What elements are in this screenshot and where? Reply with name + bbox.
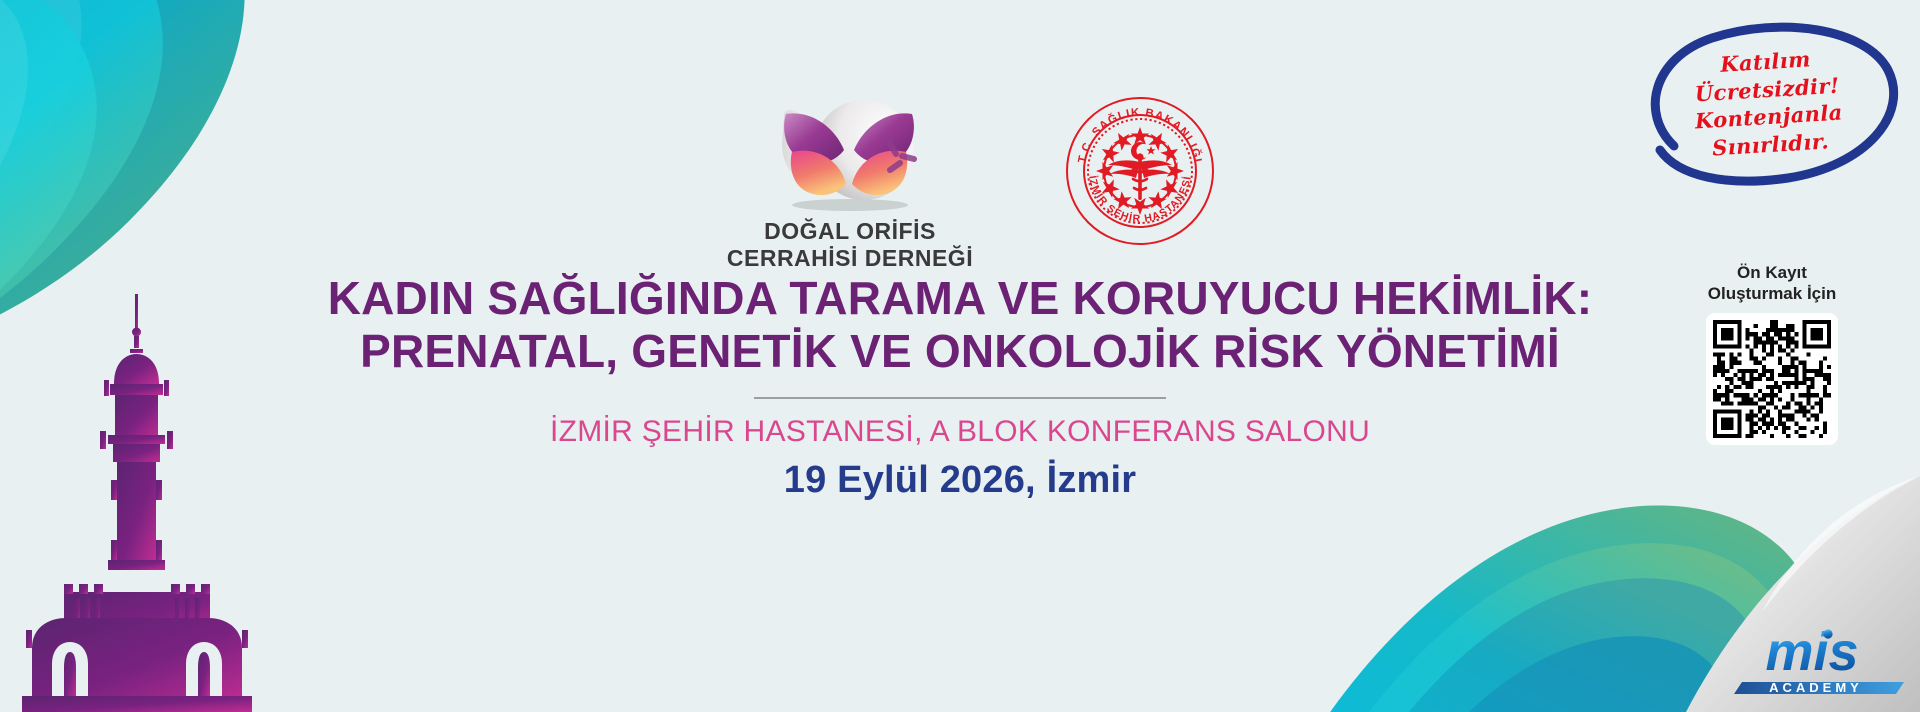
title-divider bbox=[754, 397, 1166, 399]
qr-caption-line1: Ön Kayıt bbox=[1708, 262, 1836, 283]
association-name: DOĞAL ORİFİS CERRAHİSİ DERNEĞİ bbox=[727, 218, 973, 272]
association-logo: DOĞAL ORİFİS CERRAHİSİ DERNEĞİ bbox=[705, 92, 995, 272]
pre-registration-qr-block[interactable]: Ön Kayıt Oluşturmak İçin bbox=[1684, 262, 1860, 445]
mis-wordmark: mis bbox=[1765, 622, 1858, 682]
event-date-text: 19 Eylül 2026, İzmir bbox=[784, 459, 1137, 502]
mis-academy-subtext: ACADEMY bbox=[1769, 680, 1863, 695]
qr-caption-line2: Oluşturmak İçin bbox=[1708, 283, 1836, 304]
butterfly-sphere-logo bbox=[750, 92, 950, 212]
page-title-line2: PRENATAL, GENETİK VE ONKOLOJİK RİSK YÖNE… bbox=[360, 325, 1560, 378]
event-poster: DOĞAL ORİFİS CERRAHİSİ DERNEĞİ T.C. SAĞL… bbox=[0, 0, 1920, 712]
venue-text: İZMİR ŞEHİR HASTANESİ, A BLOK KONFERANS … bbox=[550, 415, 1370, 449]
qr-code bbox=[1713, 320, 1831, 438]
qr-code-frame[interactable] bbox=[1706, 313, 1838, 445]
free-participation-text: Katılım Ücretsizdir! Kontenjanla Sınırlı… bbox=[1631, 40, 1905, 167]
association-name-line2: CERRAHİSİ DERNEĞİ bbox=[727, 245, 973, 272]
page-title-line1: KADIN SAĞLIĞINDA TARAMA VE KORUYUCU HEKİ… bbox=[328, 272, 1593, 325]
qr-caption: Ön Kayıt Oluşturmak İçin bbox=[1708, 262, 1836, 305]
ministry-of-health-seal: T.C. SAĞLIK BAKANLIĞI İZMİR ŞEHİR HASTAN… bbox=[1065, 96, 1215, 246]
mis-academy-logo: mis ACADEMY bbox=[1716, 620, 1906, 698]
organizer-logos: DOĞAL ORİFİS CERRAHİSİ DERNEĞİ T.C. SAĞL… bbox=[0, 92, 1920, 272]
free-participation-badge: Katılım Ücretsizdir! Kontenjanla Sınırlı… bbox=[1634, 18, 1902, 190]
association-name-line1: DOĞAL ORİFİS bbox=[727, 218, 973, 245]
title-block: KADIN SAĞLIĞINDA TARAMA VE KORUYUCU HEKİ… bbox=[0, 272, 1920, 502]
